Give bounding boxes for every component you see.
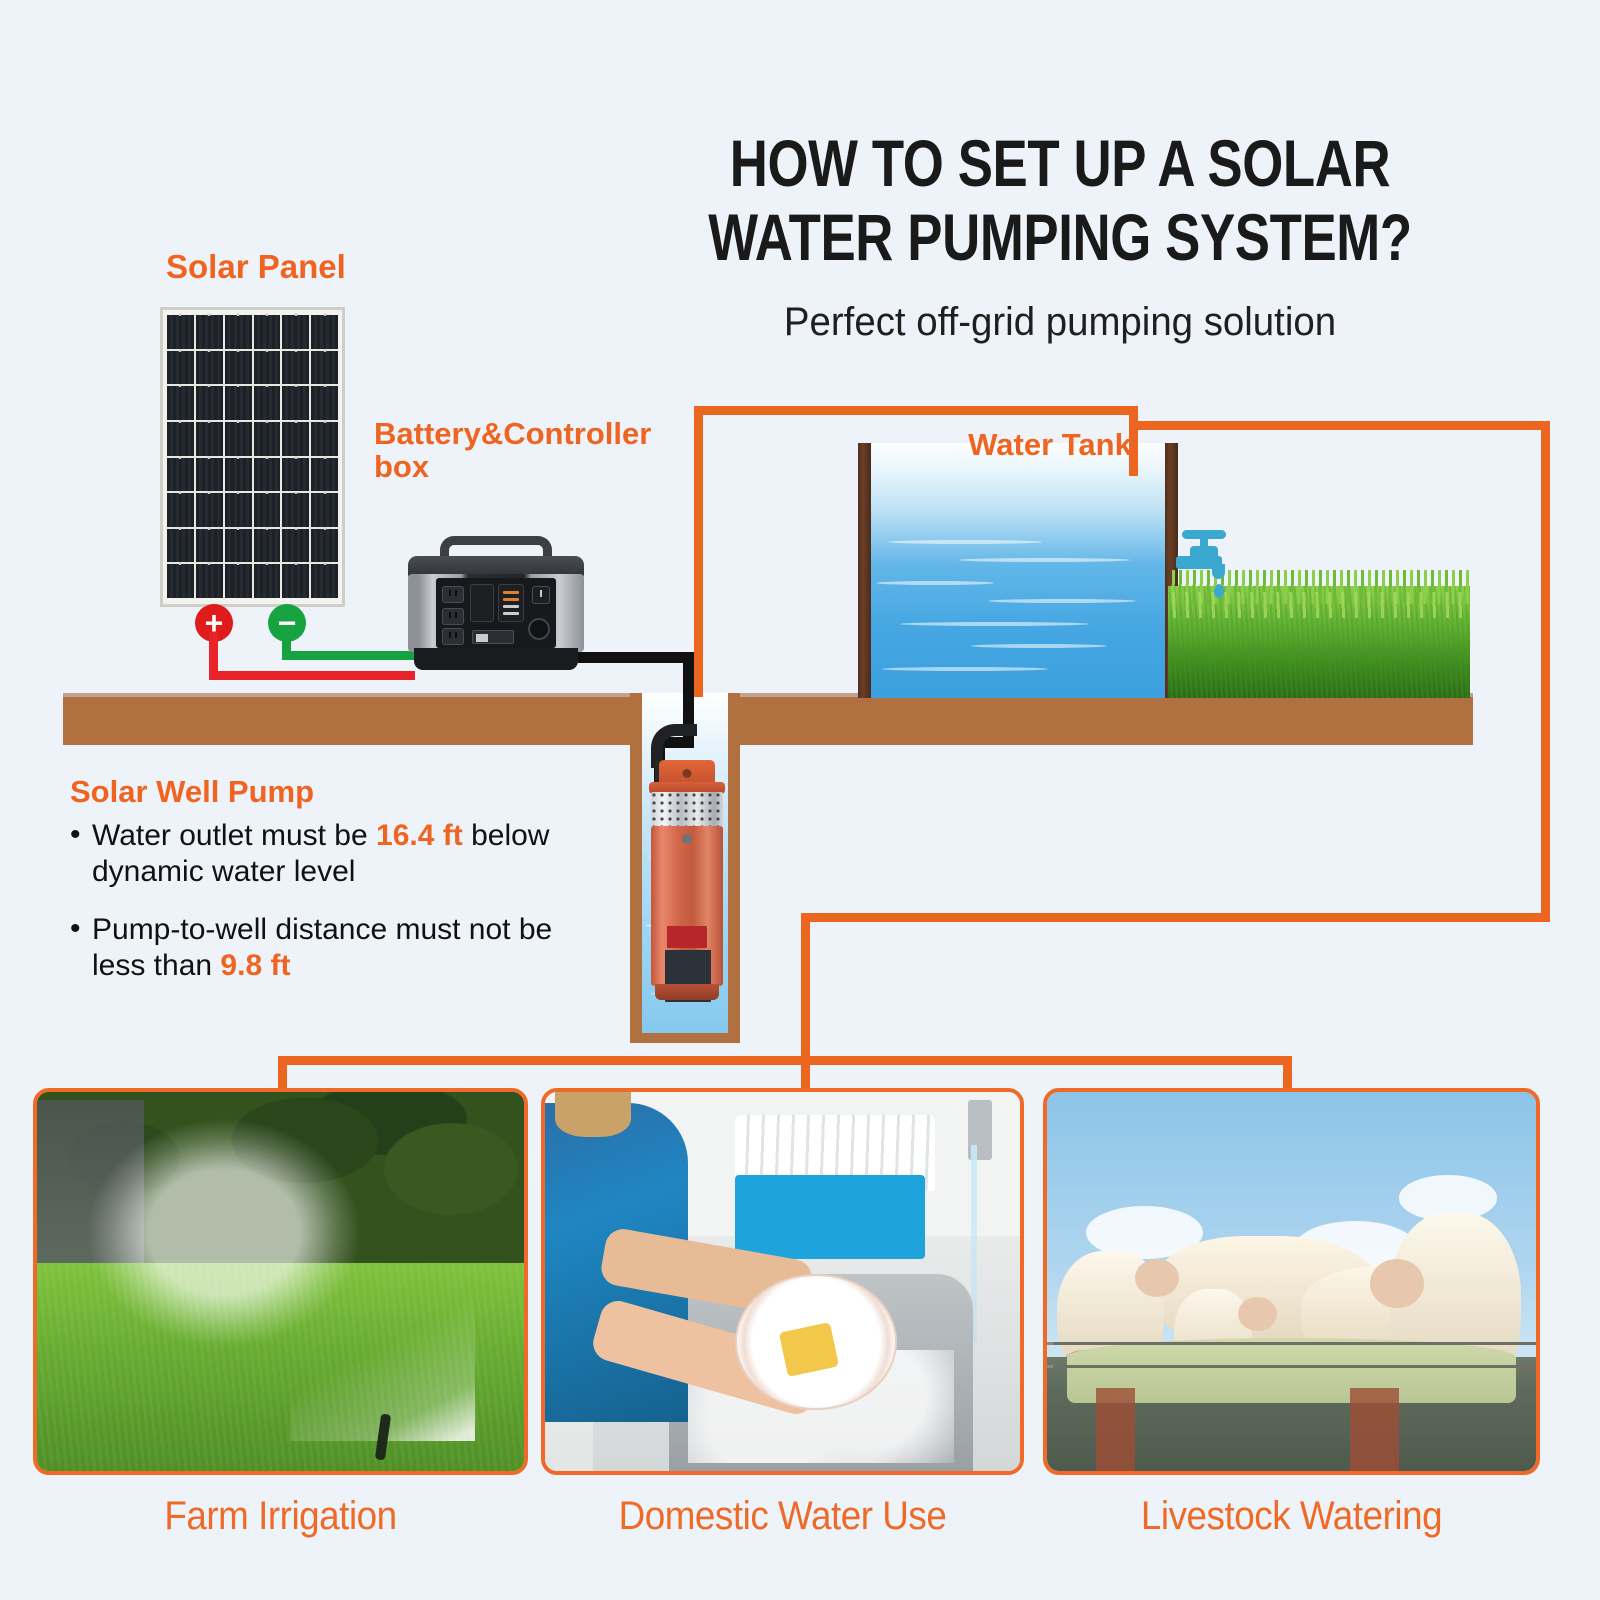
negative-wire-horizontal (282, 651, 416, 660)
usb-port-group (498, 584, 524, 622)
spec-text: Pump-to-well distance must not be less t… (92, 912, 570, 984)
label-water-tank: Water Tank (960, 428, 1140, 463)
trough-rust (1096, 1388, 1135, 1471)
tank-water (870, 443, 1166, 698)
battery-base (414, 648, 578, 670)
list-item: • Water outlet must be 16.4 ft below dyn… (70, 818, 570, 890)
pipe-distribution-trunk (278, 1056, 1292, 1065)
dish-rack (735, 1175, 925, 1258)
battery-body (408, 574, 584, 652)
pump-body (651, 826, 723, 986)
tank-wall-left (858, 443, 871, 698)
pump-spec-list: • Water outlet must be 16.4 ft below dyn… (70, 818, 570, 1006)
cow-ear (1135, 1259, 1179, 1297)
grass-patch (1168, 586, 1470, 698)
barbed-wire (1047, 1365, 1536, 1368)
status-display (472, 630, 514, 644)
solar-panel (160, 307, 345, 607)
bullet-marker: • (70, 818, 92, 890)
caption-farm-irrigation: Farm Irrigation (53, 1494, 508, 1539)
application-card-livestock-watering[interactable] (1043, 1088, 1540, 1475)
page-title: HOW TO SET UP A SOLAR WATER PUMPING SYST… (692, 126, 1428, 274)
pump-intake-screen (651, 792, 723, 828)
pipe-return-run (801, 913, 1550, 922)
caption-livestock-water: Livestock Watering (1063, 1494, 1520, 1539)
solar-well-pump-unit (645, 760, 729, 1005)
cow-ear (1238, 1297, 1277, 1331)
positive-wire-horizontal (209, 671, 415, 680)
pump-brand-label (667, 926, 707, 948)
trough-rust (1350, 1388, 1399, 1471)
person-hair (555, 1092, 631, 1137)
application-card-farm-irrigation[interactable] (33, 1088, 528, 1475)
ac-outlet-2 (442, 608, 464, 625)
pipe-right-down (1541, 421, 1550, 922)
battery-controller-box (408, 536, 584, 672)
page-subtitle: Perfect off-grid pumping solution (618, 300, 1501, 345)
pipe-tank-outlet-run (1138, 421, 1550, 430)
ground-band (63, 697, 1473, 745)
cow-ear (1370, 1259, 1424, 1308)
power-button[interactable] (532, 586, 550, 604)
ac-outlet-3 (442, 628, 464, 645)
ac-outlet-1 (442, 586, 464, 603)
list-item: • Pump-to-well distance must not be less… (70, 912, 570, 984)
pipe-branch-drop (801, 913, 810, 1065)
label-battery-controller: Battery&Controller box (374, 418, 694, 483)
dc-round-port (528, 618, 550, 640)
pump-cable-segment-1 (578, 652, 694, 663)
application-card-domestic-water[interactable] (541, 1088, 1024, 1475)
label-solar-panel: Solar Panel (166, 250, 346, 285)
faucet-icon (1176, 530, 1238, 600)
water-tank (858, 443, 1178, 698)
pump-foot (655, 984, 719, 1000)
dc-port-group (470, 584, 494, 622)
solar-cell-grid (167, 315, 338, 598)
barbed-wire (1047, 1342, 1536, 1345)
caption-domestic-water: Domestic Water Use (560, 1494, 1004, 1539)
battery-front-panel (436, 578, 556, 648)
sprinkler-jet (290, 1175, 475, 1440)
infographic-canvas: HOW TO SET UP A SOLAR WATER PUMPING SYST… (0, 0, 1600, 1600)
pipe-top-run (694, 406, 1138, 415)
pipe-riser-left (694, 406, 703, 697)
spec-text: Water outlet must be 16.4 ft below dynam… (92, 818, 570, 890)
bullet-marker: • (70, 912, 92, 984)
label-solar-well-pump: Solar Well Pump (70, 776, 314, 809)
